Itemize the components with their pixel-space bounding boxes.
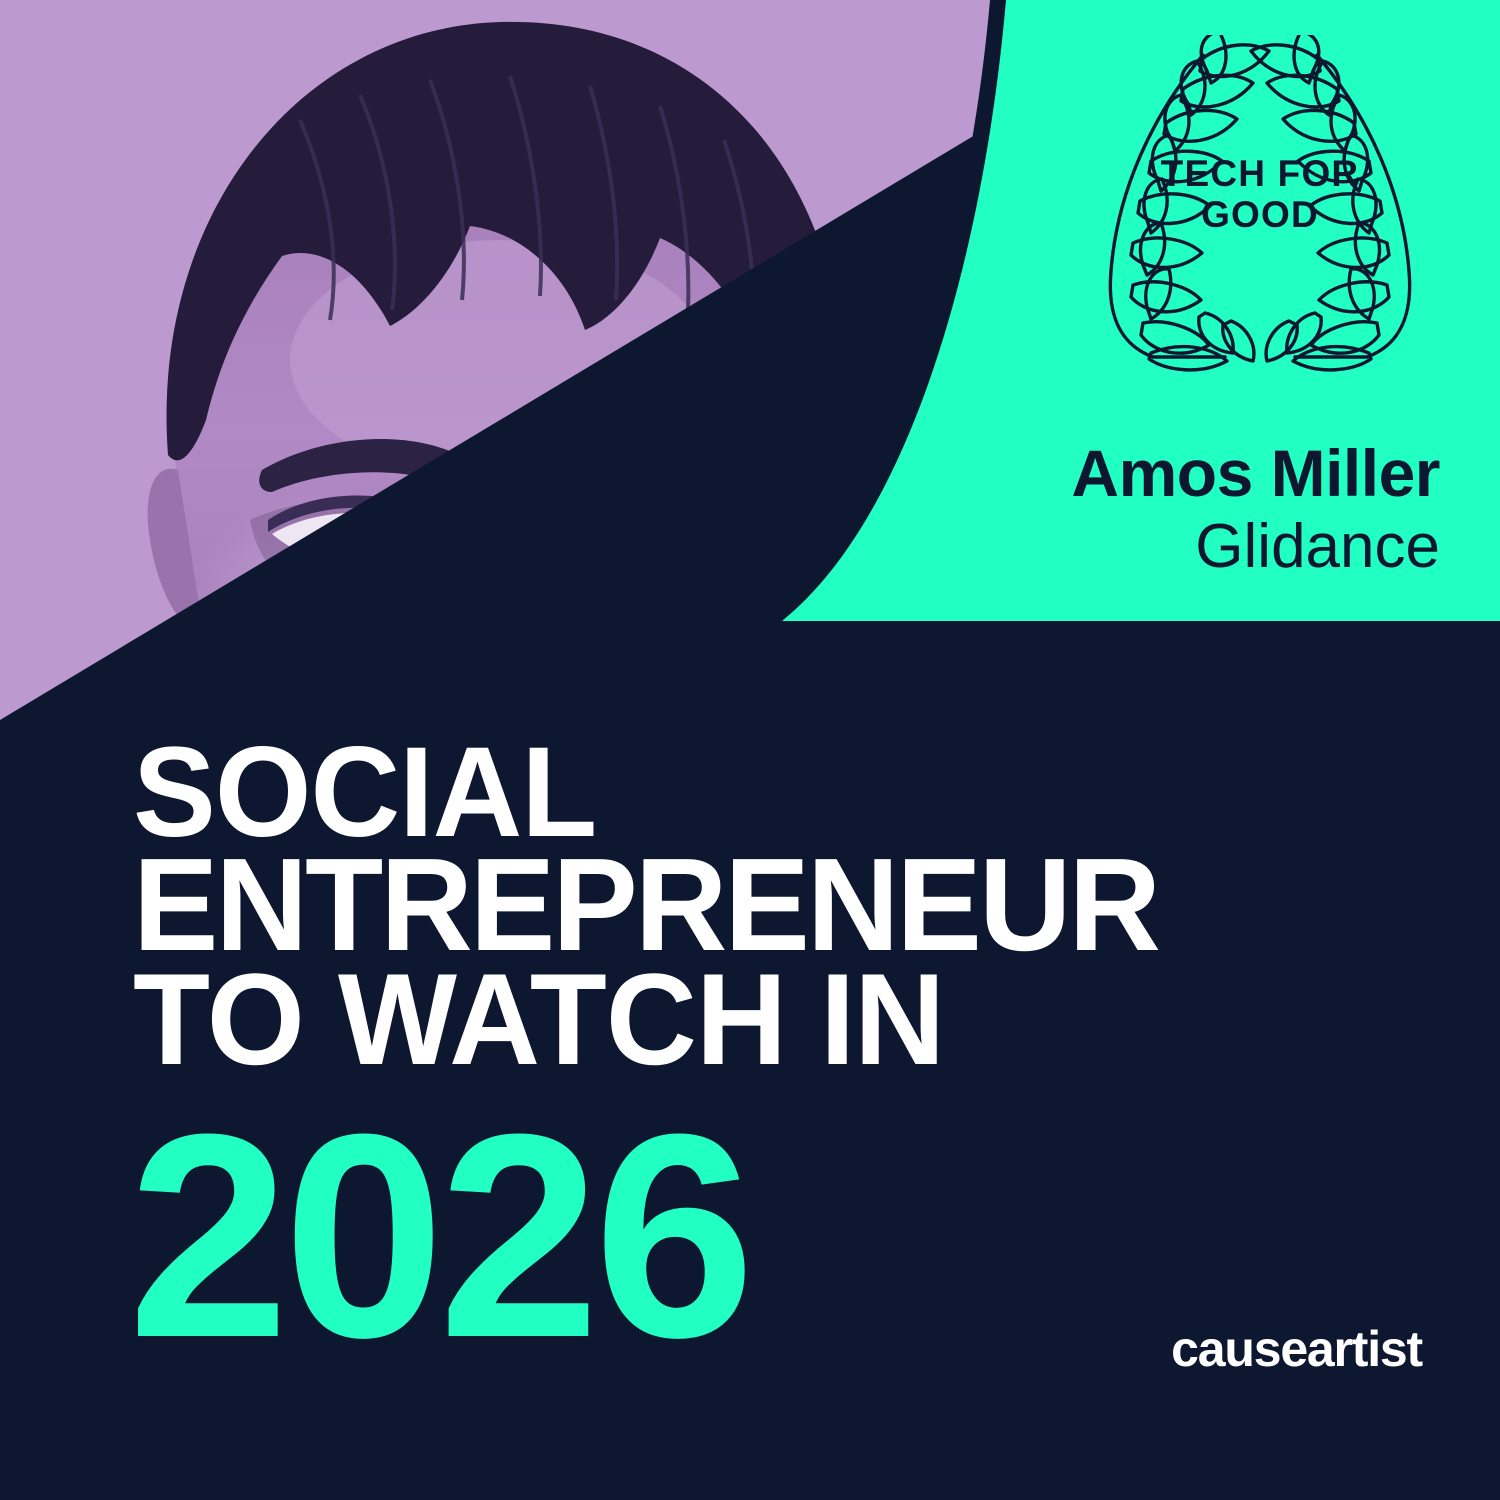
person-organization: Glidance <box>740 512 1440 581</box>
badge-line-1: TECH FOR <box>1055 153 1465 194</box>
honoree-details: Amos Miller Glidance <box>740 440 1440 581</box>
social-entrepreneur-award-card: TECH FOR GOOD Amos Miller Glidance SOCIA… <box>0 0 1500 1500</box>
headline-line-3: TO WATCH IN <box>133 963 1413 1076</box>
causeartist-logo: causeartist <box>1171 1320 1422 1378</box>
person-name: Amos Miller <box>740 440 1440 506</box>
tech-for-good-badge: TECH FOR GOOD <box>1055 35 1465 380</box>
award-year: 2026 <box>128 1115 749 1359</box>
badge-line-2: GOOD <box>1055 194 1465 235</box>
badge-label: TECH FOR GOOD <box>1055 153 1465 236</box>
award-headline: SOCIAL ENTREPRENEUR TO WATCH IN <box>133 737 1413 1076</box>
